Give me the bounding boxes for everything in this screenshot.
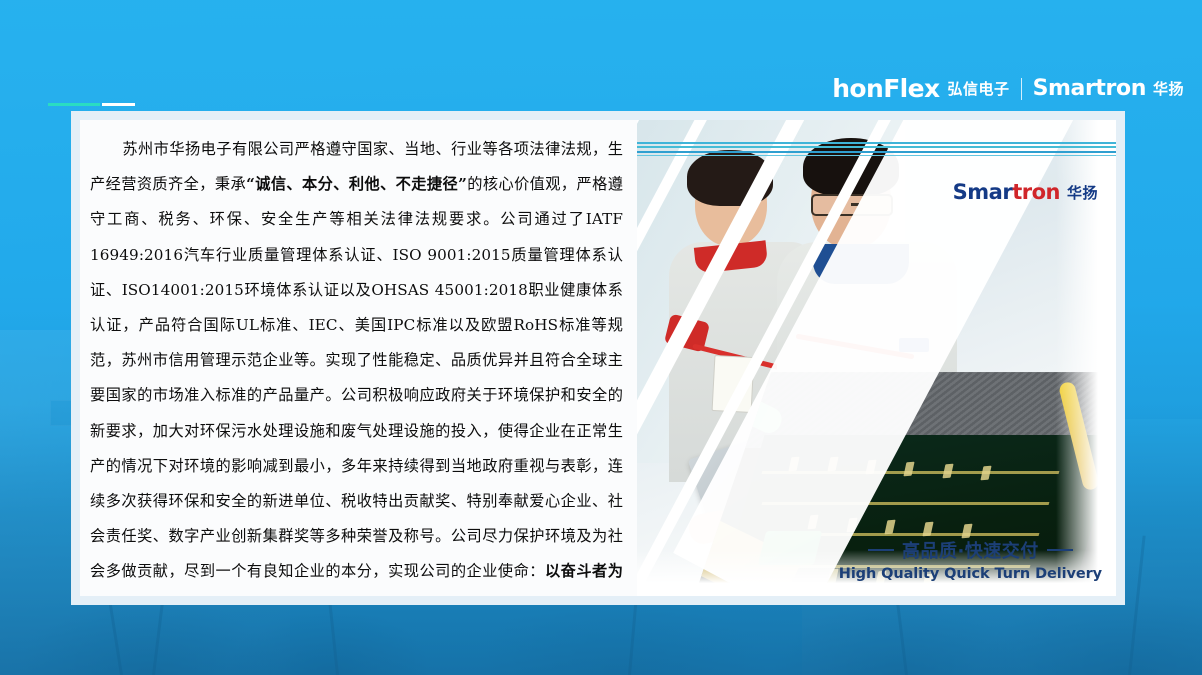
tagline-dash-left [868,549,894,551]
text-column: 苏州市华扬电子有限公司严格遵守国家、当地、行业等各项法律法规，生产经营资质齐全，… [80,120,637,596]
smartron-wordmark: Smartron [1033,78,1146,100]
content-card-frame: 苏州市华扬电子有限公司严格遵守国家、当地、行业等各项法律法规，生产经营资质齐全，… [71,111,1125,605]
brand-smartron: Smartron 华扬 [1033,78,1184,100]
accent-rule-white [102,103,135,106]
honflex-wordmark: honFlex [832,76,939,101]
header-brand-lockup: honFlex 弘信电子 Smartron 华扬 [832,76,1184,101]
content-card: 苏州市华扬电子有限公司严格遵守国家、当地、行业等各项法律法规，生产经营资质齐全，… [80,120,1116,596]
tagline-english-text: High Quality Quick Turn Delivery [839,566,1102,582]
hairline-1 [637,142,1116,144]
photo-hairline-group [637,142,1116,158]
honflex-chinese-name: 弘信电子 [948,78,1010,99]
accent-rule-teal [48,103,100,106]
smartron-chinese-name: 华扬 [1153,78,1184,99]
hairline-2 [637,146,1116,148]
photo-smartron-logo: Smartron 华扬 [953,182,1098,203]
paragraph-segment-2: 的核心价值观，严格遵守工商、税务、环保、安全生产等相关法律法规要求。公司通过了I… [90,175,623,580]
photo-smartron-word-b: tron [1012,180,1060,204]
tagline-chinese-row: 高品质·快速交付 [839,537,1102,563]
brand-honflex: honFlex 弘信电子 [832,76,1009,101]
company-profile-paragraph: 苏州市华扬电子有限公司严格遵守国家、当地、行业等各项法律法规，生产经营资质齐全，… [90,132,623,596]
accent-rule-group [48,103,135,106]
tagline-dash-right [1047,549,1073,551]
photo-column: Smartron 华扬 高品质·快速交付 High Quality Quick … [637,120,1116,596]
hairline-3 [637,151,1116,153]
brand-separator-divider [1021,78,1022,100]
core-values-quote: “诚信、本分、利他、不走捷径” [246,175,467,193]
photo-composite: Smartron 华扬 高品质·快速交付 High Quality Quick … [637,120,1116,596]
photo-smartron-wordmark: Smartron [953,182,1060,203]
slide-root: honFlex 弘信电子 Smartron 华扬 苏州市华扬电子有限公司严格遵守… [0,0,1202,675]
photo-tagline-block: 高品质·快速交付 High Quality Quick Turn Deliver… [839,537,1102,582]
photo-smartron-chinese: 华扬 [1067,182,1098,203]
hairline-4 [637,155,1116,156]
photo-smartron-word-a: Smar [953,180,1013,204]
tagline-chinese-text: 高品质·快速交付 [902,537,1039,563]
